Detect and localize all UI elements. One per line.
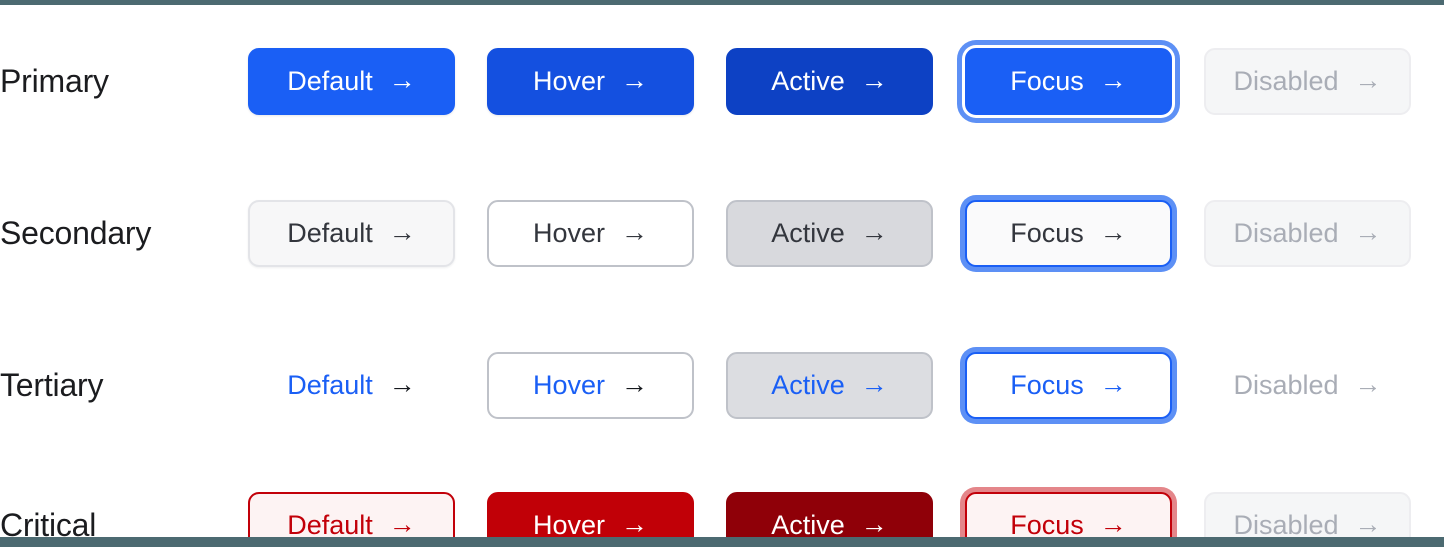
- cell-secondary-hover: Hover→: [487, 200, 726, 267]
- button-label: Focus: [1010, 512, 1084, 539]
- arrow-right-icon: →: [389, 511, 416, 538]
- button-label: Disabled: [1233, 372, 1338, 399]
- button-tertiary-hover[interactable]: Hover→: [487, 352, 694, 419]
- arrow-right-icon: →: [1355, 219, 1382, 246]
- cell-primary-default: Default→: [248, 48, 487, 115]
- cell-tertiary-default: Default→: [248, 352, 487, 419]
- button-label: Hover: [533, 220, 605, 247]
- button-label: Disabled: [1233, 68, 1338, 95]
- button-label: Disabled: [1233, 512, 1338, 539]
- cell-primary-disabled: Disabled→: [1204, 48, 1443, 115]
- button-label: Hover: [533, 512, 605, 539]
- bottom-edge-bar: [0, 537, 1444, 547]
- arrow-right-icon: →: [1100, 67, 1127, 94]
- cell-primary-hover: Hover→: [487, 48, 726, 115]
- button-label: Hover: [533, 372, 605, 399]
- button-secondary-active[interactable]: Active→: [726, 200, 933, 267]
- row-label-secondary: Secondary: [0, 217, 248, 249]
- arrow-right-icon: →: [861, 511, 888, 538]
- cell-secondary-focus: Focus→: [965, 200, 1204, 267]
- button-row-critical: CriticalDefault→Hover→Active→Focus→Disab…: [0, 449, 1444, 547]
- arrow-right-icon: →: [1355, 371, 1382, 398]
- button-row-tertiary: TertiaryDefault→Hover→Active→Focus→Disab…: [0, 309, 1444, 461]
- cell-tertiary-active: Active→: [726, 352, 965, 419]
- button-primary-focus[interactable]: Focus→: [965, 48, 1172, 115]
- cell-secondary-default: Default→: [248, 200, 487, 267]
- arrow-right-icon: →: [1100, 371, 1127, 398]
- row-label-tertiary: Tertiary: [0, 369, 248, 401]
- row-label-primary: Primary: [0, 65, 248, 97]
- button-row-secondary: SecondaryDefault→Hover→Active→Focus→Disa…: [0, 157, 1444, 309]
- button-label: Default: [287, 512, 373, 539]
- button-tertiary-active[interactable]: Active→: [726, 352, 933, 419]
- arrow-right-icon: →: [861, 67, 888, 94]
- cell-tertiary-hover: Hover→: [487, 352, 726, 419]
- button-label: Default: [287, 372, 373, 399]
- button-tertiary-disabled: Disabled→: [1204, 352, 1411, 419]
- arrow-right-icon: →: [389, 371, 416, 398]
- button-secondary-focus[interactable]: Focus→: [965, 200, 1172, 267]
- arrow-right-icon: →: [621, 67, 648, 94]
- arrow-right-icon: →: [389, 67, 416, 94]
- cell-primary-active: Active→: [726, 48, 965, 115]
- button-secondary-hover[interactable]: Hover→: [487, 200, 694, 267]
- button-label: Disabled: [1233, 220, 1338, 247]
- arrow-right-icon: →: [1355, 511, 1382, 538]
- button-label: Active: [771, 372, 845, 399]
- arrow-right-icon: →: [621, 511, 648, 538]
- arrow-right-icon: →: [621, 219, 648, 246]
- button-primary-disabled: Disabled→: [1204, 48, 1411, 115]
- button-label: Focus: [1010, 372, 1084, 399]
- button-label: Focus: [1010, 68, 1084, 95]
- button-label: Default: [287, 220, 373, 247]
- arrow-right-icon: →: [1355, 67, 1382, 94]
- arrow-right-icon: →: [621, 371, 648, 398]
- button-label: Active: [771, 68, 845, 95]
- button-primary-active[interactable]: Active→: [726, 48, 933, 115]
- button-primary-default[interactable]: Default→: [248, 48, 455, 115]
- arrow-right-icon: →: [389, 219, 416, 246]
- button-tertiary-focus[interactable]: Focus→: [965, 352, 1172, 419]
- cell-secondary-active: Active→: [726, 200, 965, 267]
- button-label: Focus: [1010, 220, 1084, 247]
- button-secondary-disabled: Disabled→: [1204, 200, 1411, 267]
- cell-tertiary-disabled: Disabled→: [1204, 352, 1443, 419]
- button-state-matrix: PrimaryDefault→Hover→Active→Focus→Disabl…: [0, 0, 1444, 547]
- cell-tertiary-focus: Focus→: [965, 352, 1204, 419]
- arrow-right-icon: →: [1100, 511, 1127, 538]
- arrow-right-icon: →: [861, 371, 888, 398]
- button-label: Active: [771, 512, 845, 539]
- arrow-right-icon: →: [1100, 219, 1127, 246]
- arrow-right-icon: →: [861, 219, 888, 246]
- button-label: Default: [287, 68, 373, 95]
- button-label: Active: [771, 220, 845, 247]
- button-label: Hover: [533, 68, 605, 95]
- button-grid: PrimaryDefault→Hover→Active→Focus→Disabl…: [0, 5, 1444, 537]
- button-primary-hover[interactable]: Hover→: [487, 48, 694, 115]
- cell-secondary-disabled: Disabled→: [1204, 200, 1443, 267]
- button-row-primary: PrimaryDefault→Hover→Active→Focus→Disabl…: [0, 5, 1444, 157]
- cell-primary-focus: Focus→: [965, 48, 1204, 115]
- button-secondary-default[interactable]: Default→: [248, 200, 455, 267]
- button-tertiary-default[interactable]: Default→: [248, 352, 455, 419]
